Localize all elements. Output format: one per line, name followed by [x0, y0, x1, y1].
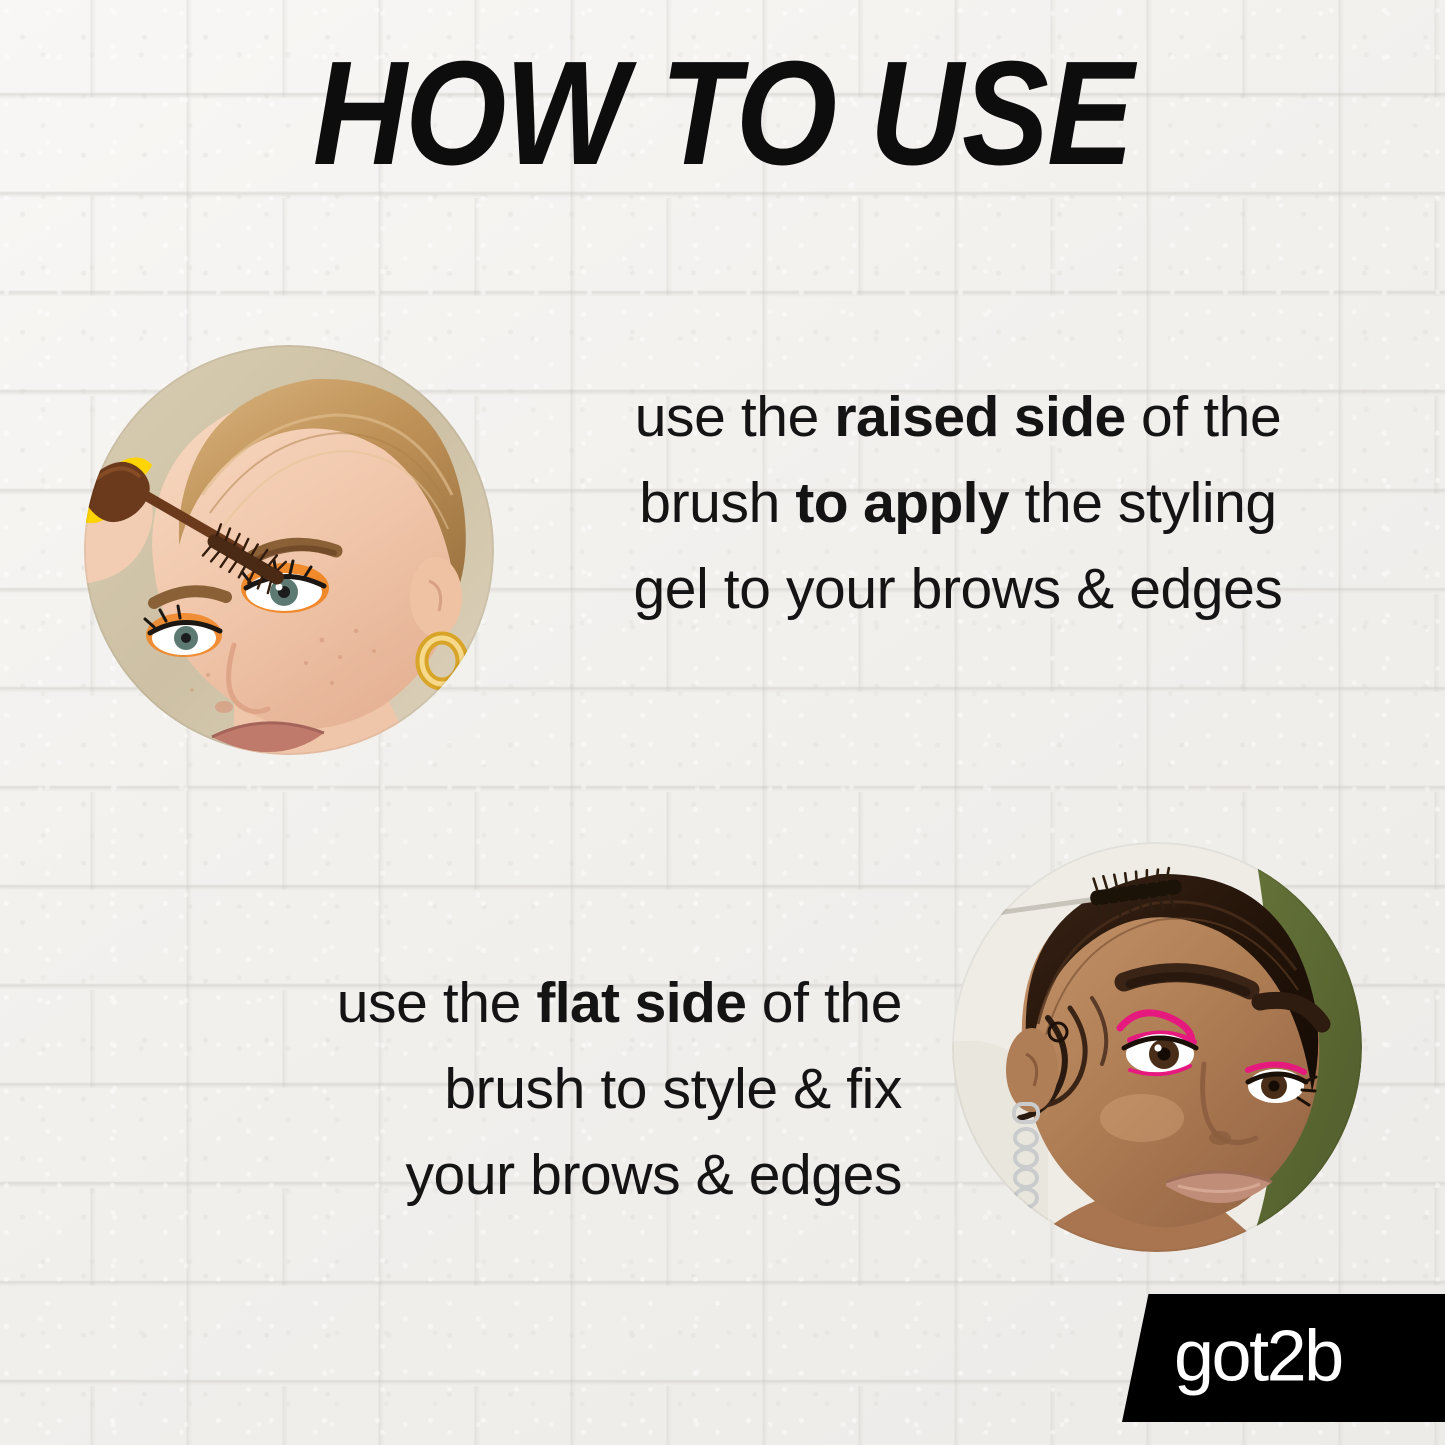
step-1-line-3: gel to your brows & edges — [552, 546, 1364, 632]
step-1-emphasis: raised side — [834, 385, 1125, 449]
photo-model-applying-gel-to-brow — [84, 345, 494, 755]
step-2-line-1: use the flat side of the — [196, 960, 902, 1046]
step-2-line-2: brush to style & fix — [196, 1046, 902, 1132]
page-title: HOW TO USE — [87, 40, 1359, 188]
photo-model-styling-edges — [952, 842, 1362, 1252]
step-1-emphasis: to apply — [795, 471, 1009, 535]
step-1-instruction-text: use the raised side of thebrush to apply… — [552, 374, 1364, 632]
step-2-line-3: your brows & edges — [196, 1132, 902, 1218]
step-1-line-2: brush to apply the styling — [552, 460, 1364, 546]
got2b-logo-text: got2b — [1174, 1321, 1342, 1393]
step-2-instruction-text: use the flat side of thebrush to style &… — [196, 960, 902, 1218]
step-2-emphasis: flat side — [536, 971, 746, 1035]
got2b-logo[interactable]: got2b — [1122, 1294, 1445, 1422]
step-1-line-1: use the raised side of the — [552, 374, 1364, 460]
how-to-use-infographic: HOW TO USE — [0, 0, 1445, 1445]
